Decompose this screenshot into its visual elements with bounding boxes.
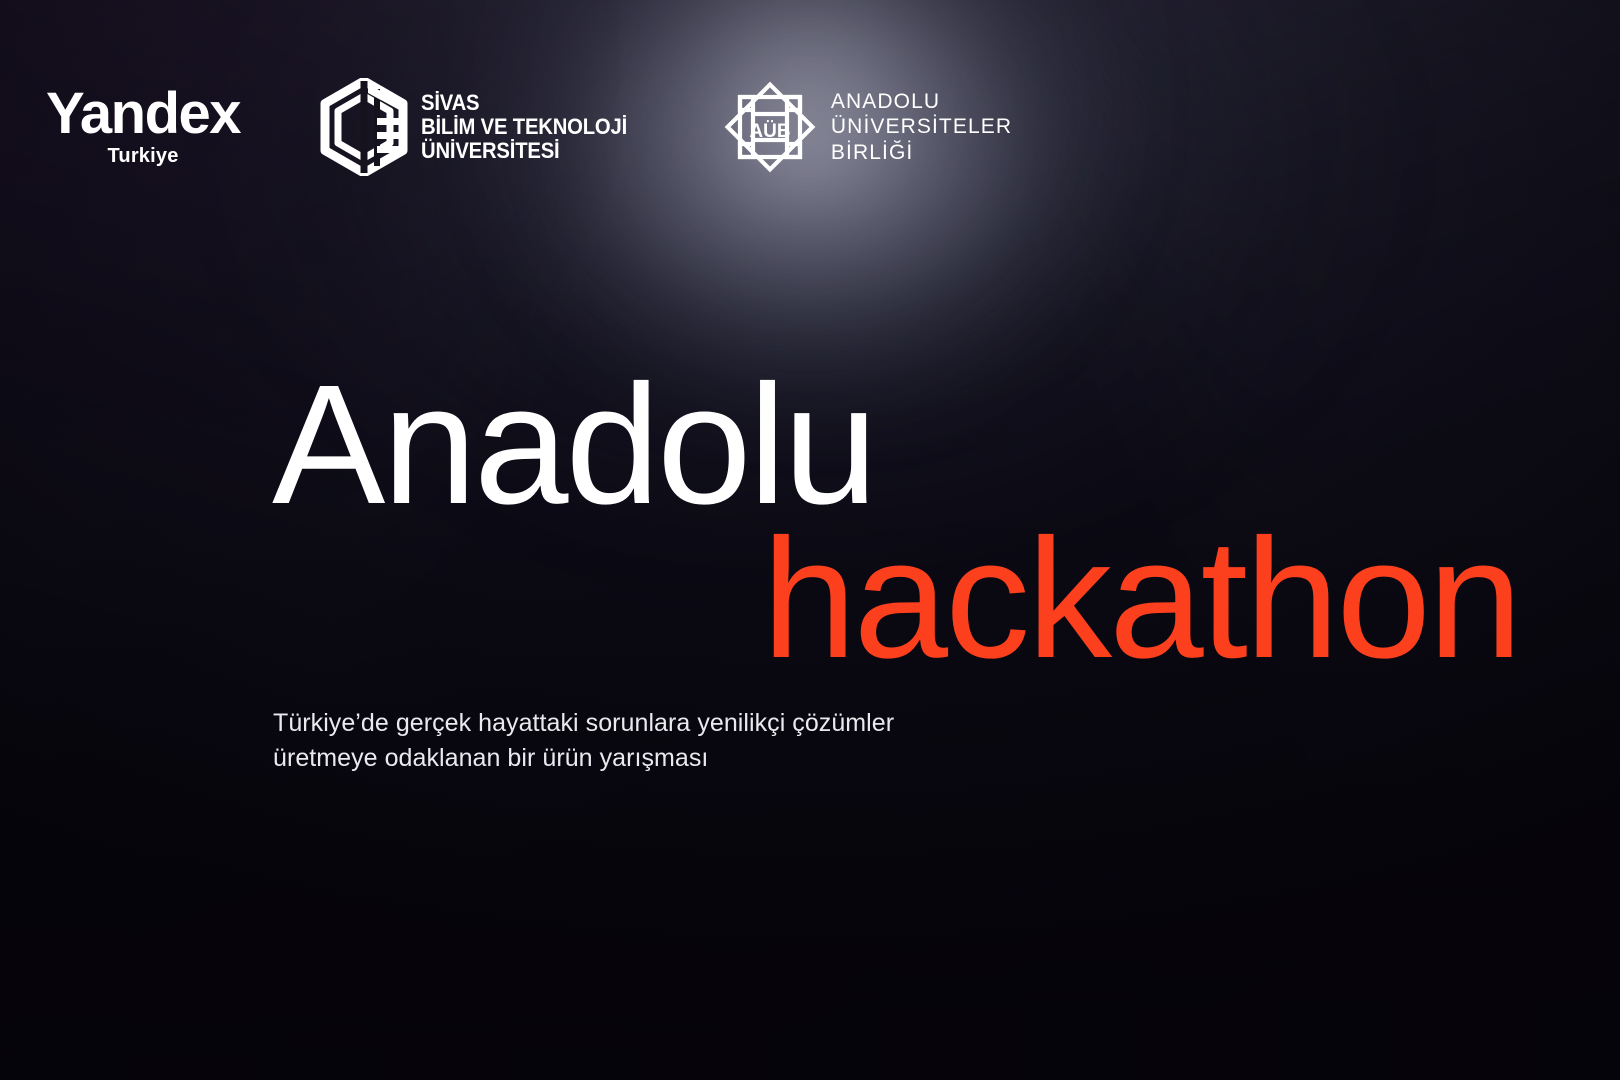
event-tagline-line-1: Türkiye’de gerçek hayattaki sorunlara ye… (273, 706, 894, 741)
aub-line-3: BİRLİĞİ (831, 140, 1012, 165)
sivas-line-3: ÜNİVERSİTESİ (421, 139, 627, 163)
sivas-line-1: SİVAS (421, 91, 627, 115)
logo-yandex[interactable]: Yandex Turkiye (54, 86, 232, 169)
yandex-sublabel: Turkiye (107, 145, 178, 168)
sivas-university-name: SİVAS BİLİM VE TEKNOLOJİ ÜNİVERSİTESİ (421, 91, 627, 163)
hero-poster: Yandex Turkiye SİVAS (0, 0, 1620, 1080)
aub-organization-name: ANADOLU ÜNİVERSİTELER BİRLİĞİ (831, 89, 1012, 165)
event-title: Anadolu hackathon (0, 372, 1620, 672)
aub-star-emblem-icon: AÜB (724, 81, 816, 173)
sivas-hexagon-logo-icon (320, 78, 408, 176)
event-title-line-anadolu: Anadolu (0, 372, 1620, 518)
aub-line-1: ANADOLU (831, 89, 1012, 114)
event-title-line-hackathon: hackathon (0, 526, 1620, 672)
aub-emblem-text: AÜB (749, 121, 790, 142)
sivas-line-2: BİLİM VE TEKNOLOJİ (421, 115, 627, 139)
sponsor-logo-bar: Yandex Turkiye SİVAS (54, 78, 1012, 176)
yandex-wordmark: Yandex (46, 86, 240, 142)
logo-sivas-university[interactable]: SİVAS BİLİM VE TEKNOLOJİ ÜNİVERSİTESİ (320, 78, 650, 176)
logo-anadolu-universiteler-birligi[interactable]: AÜB ANADOLU ÜNİVERSİTELER BİRLİĞİ (724, 81, 1012, 173)
aub-line-2: ÜNİVERSİTELER (831, 114, 1012, 139)
event-tagline-line-2: üretmeye odaklanan bir ürün yarışması (273, 741, 894, 776)
event-tagline: Türkiye’de gerçek hayattaki sorunlara ye… (273, 706, 894, 775)
